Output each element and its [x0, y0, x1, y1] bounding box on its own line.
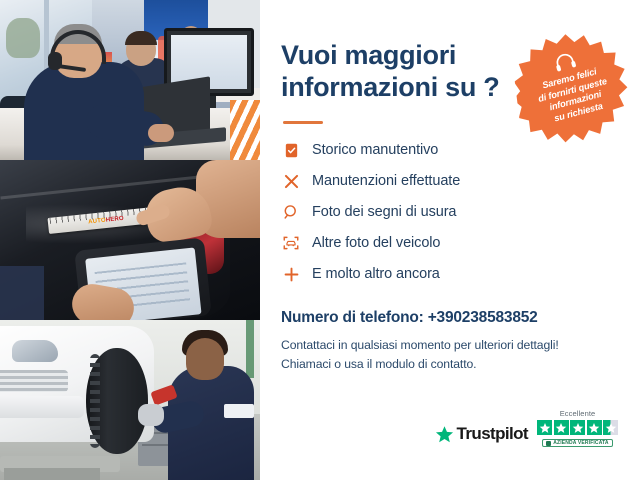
wrench-tools-icon	[281, 171, 301, 191]
page-title: Vuoi maggiori informazioni su ?	[281, 40, 511, 104]
list-item-label: Altre foto del veicolo	[312, 235, 440, 251]
headset-icon	[552, 50, 578, 73]
contact-description: Contattaci in qualsiasi momento per ulte…	[281, 336, 616, 374]
photo-column: AUTOHERO	[0, 0, 260, 480]
advertisement-banner: AUTOHERO	[0, 0, 640, 480]
car-photo-frame-icon	[281, 233, 301, 253]
list-item: Foto dei segni di usura	[281, 200, 616, 225]
list-item-label: Foto dei segni di usura	[312, 204, 456, 220]
vehicle-inspection-photo: AUTOHERO	[0, 160, 260, 320]
outdoor-tree-shape	[6, 18, 40, 58]
car-grille	[0, 370, 68, 392]
star-filled-1	[537, 420, 552, 435]
background-strip	[0, 266, 44, 320]
feature-list: Storico manutentivo Manutenzioni effettu…	[281, 138, 616, 287]
contact-description-line-2: Chiamaci o usa il modulo di contatto.	[281, 357, 476, 371]
trustpilot-logo: Trustpilot	[435, 424, 528, 447]
list-item-label: Manutenzioni effettuate	[312, 173, 460, 189]
callout-badge: Saremo felici di fornirti queste informa…	[510, 26, 635, 151]
headline-line-2: informazioni su ?	[281, 72, 499, 102]
tyre-tread	[90, 354, 100, 448]
vehicle-lift-base	[4, 468, 100, 480]
mechanic-uniform-badge	[224, 404, 254, 418]
star-filled-2	[554, 420, 569, 435]
list-item: Manutenzioni effettuate	[281, 169, 616, 194]
trustpilot-rating[interactable]: Trustpilot Eccellente AZIENDA VERIFICATA	[435, 409, 618, 447]
wall-equipment	[246, 320, 254, 378]
trustpilot-score-block: Eccellente AZIENDA VERIFICATA	[537, 409, 618, 447]
verified-company-badge: AZIENDA VERIFICATA	[542, 439, 612, 447]
list-item-label: Storico manutentivo	[312, 142, 438, 158]
trustpilot-star-icon	[435, 425, 454, 444]
list-item: Altre foto del veicolo	[281, 231, 616, 256]
verified-check-icon	[546, 441, 551, 446]
autohero-logo-part-a: AUTO	[88, 218, 106, 226]
call-centre-agents-photo	[0, 0, 260, 160]
car-bumper	[0, 396, 84, 418]
star-filled-3	[570, 420, 585, 435]
car-headlight	[12, 340, 58, 362]
trustpilot-wordmark: Trustpilot	[457, 424, 528, 444]
headline-line-1: Vuoi maggiori	[281, 40, 456, 70]
contact-description-line-1: Contattaci in qualsiasi momento per ulte…	[281, 338, 559, 352]
mechanic-head	[186, 338, 224, 380]
trustpilot-rating-label: Eccellente	[560, 409, 596, 418]
plus-icon	[281, 264, 301, 284]
badge-text: Saremo felici di fornirti queste informa…	[524, 62, 625, 131]
car-wheel	[86, 348, 148, 454]
magnifier-icon	[281, 202, 301, 222]
star-filled-4	[587, 420, 602, 435]
workshop-mechanic-photo	[0, 320, 260, 480]
orange-divider	[283, 121, 323, 124]
list-item-label: E molto altro ancora	[312, 266, 440, 282]
checklist-document-icon	[281, 140, 301, 160]
star-half-5	[603, 420, 618, 435]
content-panel: Vuoi maggiori informazioni su ? Storico …	[260, 0, 640, 480]
phone-number[interactable]: Numero di telefono: +390238583852	[281, 309, 616, 327]
orange-display-stand	[230, 100, 260, 160]
list-item: E molto altro ancora	[281, 262, 616, 287]
verified-company-label: AZIENDA VERIFICATA	[553, 440, 608, 446]
autohero-logo-part-b: HERO	[106, 216, 125, 224]
trustpilot-stars	[537, 420, 618, 435]
mechanic-glove	[138, 404, 164, 426]
foreground-agent-hand	[148, 124, 174, 142]
